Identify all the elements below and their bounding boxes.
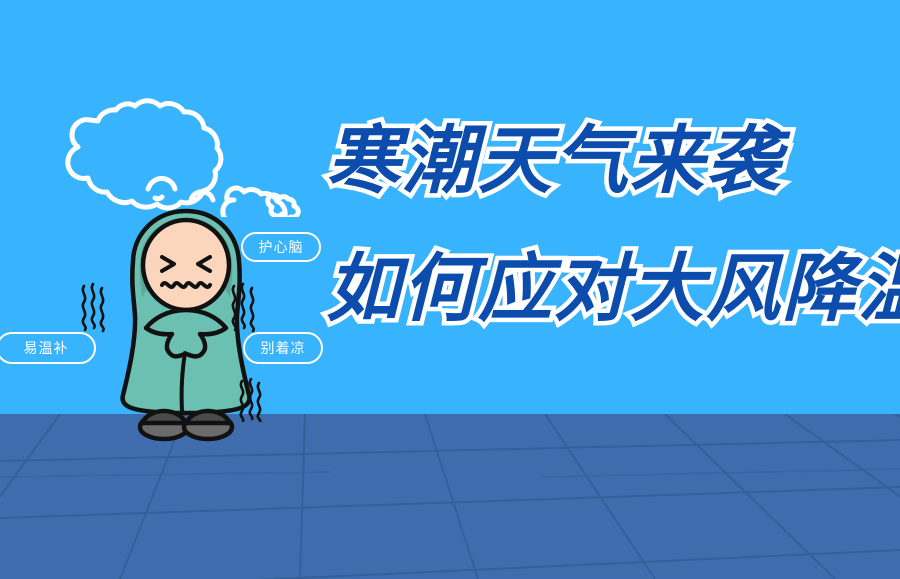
shiver-mark-icon [228,282,258,334]
tag-warm-tonic-label: 易温补 [24,338,69,358]
shiver-mark-icon [78,282,108,334]
shiver-mark-icon [236,378,264,422]
poster-canvas: 护心脑 易温补 别着凉 寒潮天气来袭 如何应对大风降温 [0,0,900,579]
tag-dont-catch-cold-label: 别着凉 [261,338,306,358]
tag-protect-heart-brain[interactable]: 护心脑 [241,232,321,262]
tag-protect-heart-brain-label: 护心脑 [259,237,304,257]
blowing-cloud-icon [38,72,308,217]
tag-warm-tonic[interactable]: 易温补 [0,332,96,364]
headline-primary: 寒潮天气来袭 [326,124,782,198]
tag-dont-catch-cold[interactable]: 别着凉 [243,332,323,364]
headline-secondary: 如何应对大风降温 [326,252,900,326]
